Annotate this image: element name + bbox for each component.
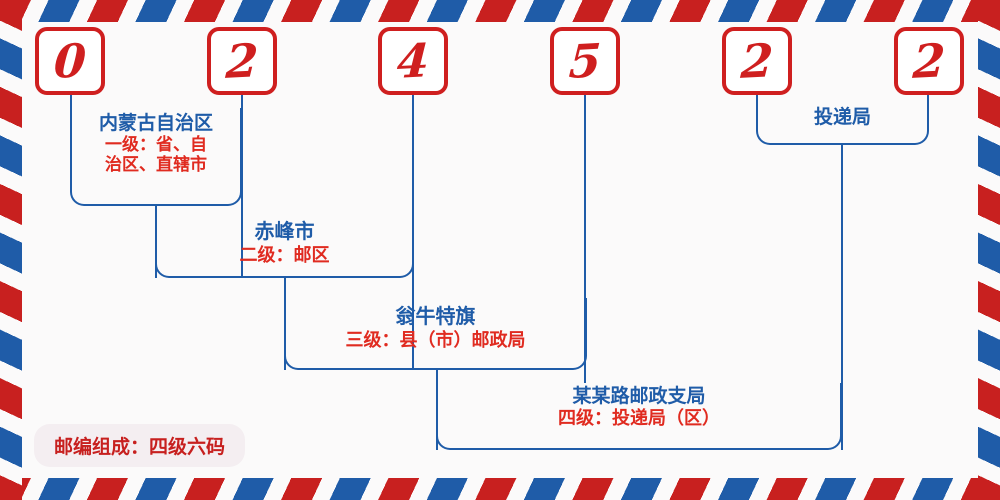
postcode-digit-5[interactable]: 2 bbox=[722, 27, 792, 95]
postcode-infographic: 0 2 4 5 2 2 投递局 内蒙古自治区 一级：省、自 治区、直辖市 赤峰市… bbox=[0, 0, 1000, 500]
label-level-3: 翁牛特旗 三级：县（市）邮政局 bbox=[284, 306, 587, 351]
postcode-digit-6[interactable]: 2 bbox=[894, 27, 964, 95]
airmail-border-right bbox=[978, 0, 1000, 500]
label-delivery-office-name: 投递局 bbox=[756, 107, 929, 129]
label-level-4-name: 某某路邮政支局 bbox=[436, 386, 842, 408]
label-level-4-line1: 四级：投递局（区） bbox=[436, 408, 842, 429]
postcode-digit-3[interactable]: 4 bbox=[378, 27, 448, 95]
postcode-digit-4[interactable]: 5 bbox=[550, 27, 620, 95]
digit-glyph-1: 0 bbox=[53, 37, 88, 85]
label-level-1-name: 内蒙古自治区 bbox=[70, 113, 242, 135]
postcode-digit-2[interactable]: 2 bbox=[207, 27, 277, 95]
label-delivery-office: 投递局 bbox=[756, 107, 929, 129]
digit-glyph-5: 2 bbox=[740, 37, 775, 85]
postcode-composition-badge: 邮编组成：四级六码 bbox=[34, 424, 245, 467]
label-level-2-line1: 二级：邮区 bbox=[155, 245, 414, 266]
digit-glyph-3: 4 bbox=[396, 37, 431, 85]
label-level-4: 某某路邮政支局 四级：投递局（区） bbox=[436, 386, 842, 430]
airmail-border-bottom bbox=[0, 478, 1000, 500]
label-level-3-line1: 三级：县（市）邮政局 bbox=[284, 330, 587, 351]
digit-glyph-2: 2 bbox=[225, 37, 260, 85]
digit-glyph-6: 2 bbox=[912, 37, 947, 85]
airmail-border-left bbox=[0, 0, 22, 500]
label-level-1-line1: 一级：省、自 bbox=[70, 135, 242, 155]
postcode-digit-1[interactable]: 0 bbox=[35, 27, 105, 95]
label-level-3-name: 翁牛特旗 bbox=[284, 306, 587, 330]
drop-digit4 bbox=[584, 95, 586, 383]
drop-digit1 bbox=[70, 95, 72, 108]
label-level-1-line2: 治区、直辖市 bbox=[70, 155, 242, 175]
digit-glyph-4: 5 bbox=[568, 37, 603, 85]
airmail-border-top bbox=[0, 0, 1000, 22]
label-level-1: 内蒙古自治区 一级：省、自 治区、直辖市 bbox=[70, 113, 242, 176]
label-level-2-name: 赤峰市 bbox=[155, 221, 414, 245]
label-level-2: 赤峰市 二级：邮区 bbox=[155, 221, 414, 266]
